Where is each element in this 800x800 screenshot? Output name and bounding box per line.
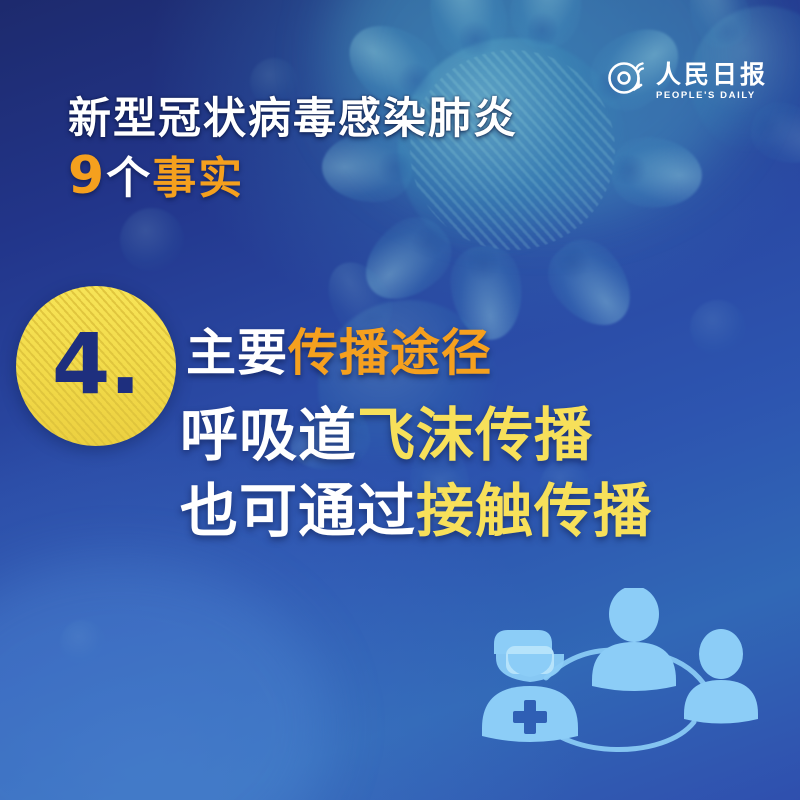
headline-count: 9 [68,146,106,206]
body-line-1-orange: 传播途径 [288,324,492,382]
headline-block: 新型冠状病毒感染肺炎 9个事实 [68,96,518,202]
headline-facts-word: 事实 [152,153,244,204]
body-line-1: 主要传播途径 [186,328,652,378]
body-line-3: 也可通过接触传播 [180,482,652,540]
right-body [684,680,758,724]
person-center-figure [592,588,676,691]
body-line-3-yellow: 接触传播 [416,477,652,545]
right-head [699,629,743,679]
virus-particle [120,208,184,272]
body-text-block: 主要传播途径 呼吸道飞沫传播 也可通过接触传播 [186,328,652,540]
body-line-2-yellow: 飞沫传播 [357,401,593,469]
logo-chinese-name: 人民日报 [656,62,768,87]
headline-line-1: 新型冠状病毒感染肺炎 [68,96,518,142]
body-line-1-white: 主要 [186,324,288,382]
body-line-2: 呼吸道飞沫传播 [180,406,652,464]
body-line-3-white: 也可通过 [180,477,416,545]
three-people-transmission-illustration [468,588,768,773]
item-number-badge: 4. [16,286,176,446]
infographic-poster: 人民日报 PEOPLE'S DAILY 新型冠状病毒感染肺炎 9个事实 4. 主… [0,0,800,800]
virus-particle [690,300,746,356]
center-head [609,588,659,642]
virus-particle [60,620,106,666]
peoples-daily-logo: 人民日报 PEOPLE'S DAILY [605,56,768,100]
glow-bottom-left [0,560,330,800]
logo-english-name: PEOPLE'S DAILY [656,91,756,101]
item-number-text: 4. [52,322,140,406]
at-sign-wifi-icon [605,56,649,100]
body-line-2-white: 呼吸道 [180,401,357,469]
headline-line-2: 9个事实 [68,150,518,202]
headline-measure-word: 个 [106,153,152,204]
